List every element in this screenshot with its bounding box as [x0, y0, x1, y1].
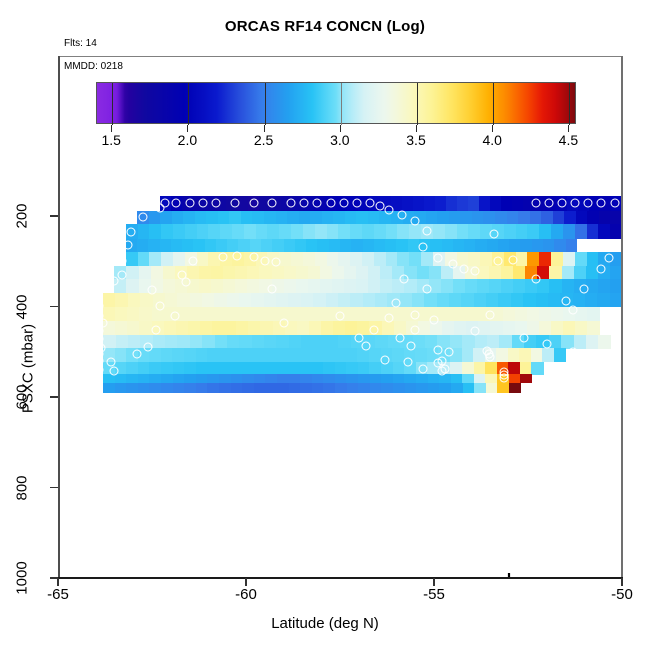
- heatmap-cell: [276, 335, 289, 349]
- heatmap-cell: [196, 362, 208, 375]
- heatmap-cell: [338, 335, 351, 349]
- heatmap-cell: [219, 362, 231, 375]
- heatmap-cell: [598, 335, 611, 349]
- track-point-marker: [399, 275, 408, 284]
- track-point-marker: [110, 276, 119, 285]
- heatmap-cell: [437, 211, 449, 225]
- heatmap-cell: [260, 321, 273, 335]
- heatmap-cell: [212, 321, 225, 335]
- heatmap-cell: [345, 211, 357, 225]
- heatmap-cell: [397, 224, 409, 239]
- track-point-marker: [151, 326, 160, 335]
- heatmap-cell: [507, 211, 519, 225]
- track-point-marker: [366, 199, 375, 208]
- heatmap-cell: [413, 196, 425, 212]
- track-point-marker: [418, 242, 427, 251]
- track-point-marker: [300, 199, 309, 208]
- heatmap-cell: [279, 252, 291, 266]
- heatmap-cell: [551, 224, 563, 239]
- heatmap-cell: [161, 224, 173, 239]
- x-axis-tick-label: -60: [235, 586, 257, 603]
- heatmap-cell: [296, 266, 309, 280]
- colorbar-tick-label: 4.5: [559, 132, 578, 148]
- heatmap-cell: [171, 239, 183, 253]
- heatmap-cell: [433, 224, 445, 239]
- heatmap-cell: [498, 239, 510, 253]
- colorbar-tick-label: 3.5: [406, 132, 425, 148]
- heatmap-cell: [439, 383, 451, 394]
- heatmap-cell: [508, 362, 520, 375]
- heatmap-cell: [326, 293, 339, 307]
- heatmap-cell: [236, 321, 249, 335]
- track-point-marker: [445, 347, 454, 356]
- heatmap-cell: [333, 321, 346, 335]
- heatmap-cell: [358, 383, 370, 394]
- heatmap-cell: [219, 383, 231, 394]
- heatmap-cell: [173, 383, 185, 394]
- heatmap-cell: [230, 348, 242, 362]
- colorbar-tick-stub: [187, 125, 188, 132]
- heatmap-cell: [598, 279, 611, 293]
- heatmap-cell: [138, 224, 150, 239]
- track-point-marker: [604, 253, 613, 262]
- heatmap-cell: [115, 307, 128, 322]
- heatmap-cell: [205, 239, 217, 253]
- track-point-marker: [544, 199, 553, 208]
- heatmap-cell: [477, 279, 490, 293]
- heatmap-cell: [315, 224, 327, 239]
- track-point-marker: [155, 301, 164, 310]
- heatmap-cell: [239, 335, 252, 349]
- colorbar-tick-label: 1.5: [101, 132, 120, 148]
- track-point-marker: [249, 252, 258, 261]
- heatmap-cell: [137, 239, 149, 253]
- heatmap-cell: [148, 239, 160, 253]
- heatmap-cell: [224, 321, 237, 335]
- heatmap-cell: [115, 321, 128, 335]
- colorbar-tick: [417, 83, 418, 125]
- heatmap-cell: [323, 362, 335, 375]
- heatmap-cell: [264, 211, 276, 225]
- heatmap-cell: [501, 196, 513, 212]
- x-axis-tick: [433, 578, 435, 586]
- heatmap-cell: [115, 348, 127, 362]
- heatmap-cell: [242, 383, 254, 394]
- heatmap-cell: [574, 266, 587, 280]
- heatmap-cell: [317, 239, 329, 253]
- heatmap-cell: [264, 293, 277, 307]
- heatmap-cell: [461, 293, 474, 307]
- track-point-marker: [597, 265, 606, 274]
- heatmap-cell: [197, 224, 209, 239]
- heatmap-cell: [435, 196, 447, 212]
- heatmap-cell: [442, 321, 455, 335]
- heatmap-cell: [329, 239, 341, 253]
- track-point-marker: [437, 367, 446, 376]
- heatmap-cell: [417, 266, 430, 280]
- heatmap-cell: [385, 239, 397, 253]
- track-point-marker: [482, 346, 491, 355]
- heatmap-cell: [128, 293, 141, 307]
- heatmap-cell: [247, 279, 260, 293]
- heatmap-cell: [236, 307, 249, 322]
- heatmap-cell: [489, 266, 502, 280]
- date-label: MMDD: 0218: [64, 61, 123, 72]
- heatmap-cell: [563, 321, 576, 335]
- heatmap-cell: [161, 362, 173, 375]
- heatmap-cell: [126, 362, 138, 375]
- track-point-marker: [584, 199, 593, 208]
- track-point-marker: [172, 199, 181, 208]
- heatmap-cell: [238, 239, 250, 253]
- heatmap-cell: [356, 211, 368, 225]
- heatmap-cell: [139, 266, 152, 280]
- track-point-marker: [531, 199, 540, 208]
- heatmap-cell: [424, 293, 437, 307]
- track-point-marker: [384, 205, 393, 214]
- colorbar-tick: [569, 83, 570, 125]
- track-point-marker: [268, 285, 277, 294]
- heatmap-cell: [351, 239, 363, 253]
- heatmap-cell: [206, 211, 218, 225]
- heatmap-cell: [176, 321, 189, 335]
- heatmap-cell: [400, 293, 413, 307]
- heatmap-cell: [288, 362, 300, 375]
- heatmap-cell: [267, 224, 279, 239]
- track-point-marker: [569, 306, 578, 315]
- heatmap-cell: [235, 266, 248, 280]
- heatmap-cell: [449, 211, 461, 225]
- colorbar-tick-label: 2.0: [178, 132, 197, 148]
- heatmap-cell: [551, 321, 564, 335]
- track-point-marker: [354, 334, 363, 343]
- heatmap-cell: [165, 335, 178, 349]
- heatmap-cell: [368, 211, 380, 225]
- heatmap-cell: [346, 362, 358, 375]
- heatmap-cell: [345, 307, 358, 322]
- heatmap-cell: [297, 321, 310, 335]
- heatmap-cell: [161, 348, 173, 362]
- heatmap-cell: [252, 335, 265, 349]
- track-point-marker: [471, 267, 480, 276]
- heatmap-cell: [254, 383, 266, 394]
- heatmap-cell: [402, 196, 414, 212]
- heatmap-cell: [126, 252, 138, 266]
- heatmap-cell: [231, 383, 243, 394]
- heatmap-cell: [397, 252, 409, 266]
- colorbar-tick-stub: [264, 125, 265, 132]
- heatmap-cell: [321, 307, 334, 322]
- heatmap-cell: [527, 307, 540, 322]
- heatmap-cell: [277, 348, 289, 362]
- track-point-marker: [110, 367, 119, 376]
- heatmap-cell: [466, 307, 479, 322]
- y-axis-tick: [50, 306, 58, 308]
- heatmap-cell: [489, 279, 502, 293]
- heatmap-plot-area: [58, 187, 622, 578]
- y-axis-title: PSXC (mbar): [20, 289, 37, 449]
- heatmap-cell: [288, 348, 300, 362]
- heatmap-cell: [241, 211, 253, 225]
- heatmap-cell: [126, 383, 138, 394]
- track-point-marker: [381, 355, 390, 364]
- track-point-marker: [509, 255, 518, 264]
- heatmap-cell: [184, 383, 196, 394]
- heatmap-cell: [368, 266, 381, 280]
- track-point-marker: [531, 275, 540, 284]
- heatmap-cell: [554, 239, 566, 253]
- flights-label: Flts: 14: [64, 38, 97, 49]
- heatmap-cell: [516, 224, 528, 239]
- track-point-marker: [148, 285, 157, 294]
- heatmap-cell: [197, 252, 209, 266]
- y-axis-tick-label: 200: [14, 194, 31, 238]
- heatmap-cell: [421, 252, 433, 266]
- colorbar-tick-stub: [111, 125, 112, 132]
- heatmap-cell: [374, 252, 386, 266]
- heatmap-cell: [289, 383, 301, 394]
- heatmap-cell: [160, 211, 172, 225]
- track-point-marker: [520, 334, 529, 343]
- heatmap-cell: [218, 211, 230, 225]
- heatmap-cell: [415, 348, 427, 362]
- track-point-marker: [95, 285, 104, 294]
- heatmap-cell: [220, 224, 232, 239]
- heatmap-cell: [551, 252, 563, 266]
- heatmap-cell: [202, 335, 215, 349]
- y-axis-tick: [50, 487, 58, 489]
- heatmap-cell: [172, 211, 184, 225]
- track-point-marker: [569, 347, 578, 356]
- heatmap-cell: [149, 383, 161, 394]
- heatmap-cell: [126, 279, 139, 293]
- heatmap-cell: [543, 239, 555, 253]
- heatmap-cell: [276, 211, 288, 225]
- heatmap-cell: [140, 293, 153, 307]
- heatmap-cell: [223, 266, 236, 280]
- heatmap-cell: [374, 224, 386, 239]
- heatmap-cell: [207, 383, 219, 394]
- heatmap-cell: [380, 266, 393, 280]
- heatmap-cell: [232, 224, 244, 239]
- heatmap-cell: [541, 211, 553, 225]
- heatmap-cell: [177, 293, 190, 307]
- track-point-marker: [407, 341, 416, 350]
- track-point-marker: [499, 374, 508, 383]
- heatmap-cell: [487, 239, 499, 253]
- heatmap-cell: [115, 383, 127, 394]
- heatmap-cell: [542, 348, 554, 362]
- heatmap-cell: [301, 293, 314, 307]
- heatmap-cell: [457, 224, 469, 239]
- track-point-marker: [117, 270, 126, 279]
- colorbar-tick: [112, 83, 113, 125]
- heatmap-cell: [358, 362, 370, 375]
- heatmap-cell: [412, 293, 425, 307]
- heatmap-cell: [321, 321, 334, 335]
- track-point-marker: [398, 211, 407, 220]
- heatmap-cell: [472, 211, 484, 225]
- heatmap-cell: [215, 335, 228, 349]
- track-point-marker: [396, 334, 405, 343]
- heatmap-cell: [327, 252, 339, 266]
- track-point-marker: [95, 301, 104, 310]
- track-point-marker: [127, 227, 136, 236]
- heatmap-cell: [450, 335, 463, 349]
- track-point-marker: [384, 313, 393, 322]
- track-point-marker: [580, 285, 589, 294]
- track-point-marker: [97, 276, 106, 285]
- colorbar-tick: [493, 83, 494, 125]
- heatmap-cell: [151, 266, 164, 280]
- heatmap-cell: [508, 348, 520, 362]
- heatmap-cell: [277, 383, 289, 394]
- heatmap-cell: [308, 266, 321, 280]
- heatmap-cell: [554, 348, 566, 362]
- track-point-marker: [471, 327, 480, 336]
- heatmap-cell: [335, 362, 347, 375]
- heatmap-cell: [185, 224, 197, 239]
- heatmap-cell: [598, 224, 610, 239]
- heatmap-cell: [519, 348, 531, 362]
- heatmap-cell: [442, 307, 455, 322]
- heatmap-cell: [562, 279, 575, 293]
- heatmap-cell: [368, 279, 381, 293]
- x-axis-tick: [57, 578, 59, 586]
- heatmap-cell: [475, 239, 487, 253]
- heatmap-cell: [454, 307, 467, 322]
- heatmap-cell: [314, 335, 327, 349]
- heatmap-cell: [332, 279, 345, 293]
- track-point-marker: [138, 213, 147, 222]
- heatmap-cell: [474, 293, 487, 307]
- x-axis-tick-label: -50: [611, 586, 633, 603]
- heatmap-cell: [446, 196, 458, 212]
- heatmap-cell: [326, 335, 339, 349]
- heatmap-cell: [149, 224, 161, 239]
- track-point-marker: [287, 199, 296, 208]
- track-point-marker: [352, 199, 361, 208]
- heatmap-cell: [382, 321, 395, 335]
- heatmap-cell: [254, 362, 266, 375]
- heatmap-cell: [253, 348, 265, 362]
- heatmap-cell: [332, 266, 345, 280]
- heatmap-cell: [115, 293, 128, 307]
- heatmap-cell: [216, 239, 228, 253]
- heatmap-cell: [442, 239, 454, 253]
- heatmap-cell: [548, 293, 561, 307]
- colorbar-gradient-fill: [97, 83, 575, 123]
- heatmap-cell: [252, 211, 264, 225]
- heatmap-cell: [333, 211, 345, 225]
- heatmap-cell: [509, 383, 521, 394]
- track-point-marker: [123, 241, 132, 250]
- colorbar-tick-label: 2.5: [254, 132, 273, 148]
- heatmap-cell: [468, 196, 480, 212]
- heatmap-cell: [409, 252, 421, 266]
- heatmap-cell: [182, 239, 194, 253]
- heatmap-cell: [536, 293, 549, 307]
- heatmap-cell: [574, 335, 587, 349]
- heatmap-cell: [523, 293, 536, 307]
- track-point-marker: [144, 343, 153, 352]
- heatmap-cell: [193, 239, 205, 253]
- heatmap-cell: [449, 293, 462, 307]
- heatmap-cell: [480, 252, 492, 266]
- heatmap-cell: [224, 307, 237, 322]
- track-point-marker: [375, 202, 384, 211]
- heatmap-cell: [190, 293, 203, 307]
- heatmap-cell: [527, 321, 540, 335]
- heatmap-cell: [576, 211, 588, 225]
- heatmap-cell: [437, 293, 450, 307]
- heatmap-cell: [138, 383, 150, 394]
- heatmap-cell: [575, 252, 587, 266]
- y-axis-line: [58, 56, 60, 579]
- heatmap-cell: [587, 211, 599, 225]
- track-point-marker: [117, 257, 126, 266]
- heatmap-cell: [248, 307, 261, 322]
- heatmap-cell: [301, 335, 314, 349]
- heatmap-cell: [463, 383, 475, 394]
- heatmap-cell: [520, 239, 532, 253]
- heatmap-cell: [284, 279, 297, 293]
- heatmap-cell: [312, 383, 324, 394]
- heatmap-cell: [297, 307, 310, 322]
- heatmap-cell: [501, 266, 514, 280]
- track-point-marker: [313, 199, 322, 208]
- heatmap-cell: [184, 348, 196, 362]
- heatmap-cell: [291, 252, 303, 266]
- heatmap-cell: [163, 279, 176, 293]
- heatmap-cell: [265, 362, 277, 375]
- track-point-marker: [561, 297, 570, 306]
- heatmap-cell: [457, 196, 469, 212]
- track-point-marker: [422, 285, 431, 294]
- x-axis-tick-label: -65: [47, 586, 69, 603]
- heatmap-cell: [532, 239, 544, 253]
- heatmap-cell: [356, 266, 369, 280]
- heatmap-cell: [566, 239, 578, 253]
- heatmap-cell: [451, 383, 463, 394]
- heatmap-cell: [363, 293, 376, 307]
- heatmap-cell: [453, 239, 465, 253]
- heatmap-cell: [562, 266, 575, 280]
- track-point-marker: [433, 254, 442, 263]
- heatmap-cell: [599, 211, 611, 225]
- heatmap-cell: [418, 321, 431, 335]
- heatmap-cell: [239, 293, 252, 307]
- track-point-marker: [422, 226, 431, 235]
- track-point-marker: [95, 356, 104, 365]
- heatmap-cell: [149, 362, 161, 375]
- heatmap-cell: [195, 211, 207, 225]
- heatmap-cell: [563, 224, 575, 239]
- heatmap-cell: [306, 239, 318, 253]
- heatmap-cell: [338, 224, 350, 239]
- heatmap-cell: [527, 224, 539, 239]
- heatmap-cell: [334, 348, 346, 362]
- heatmap-cell: [375, 335, 388, 349]
- heatmap-cell: [539, 224, 551, 239]
- heatmap-cell: [357, 307, 370, 322]
- heatmap-cell: [346, 348, 358, 362]
- heatmap-cell: [515, 307, 528, 322]
- heatmap-cell: [261, 239, 273, 253]
- heatmap-cell: [516, 252, 528, 266]
- track-point-marker: [557, 199, 566, 208]
- heatmap-cell: [490, 321, 503, 335]
